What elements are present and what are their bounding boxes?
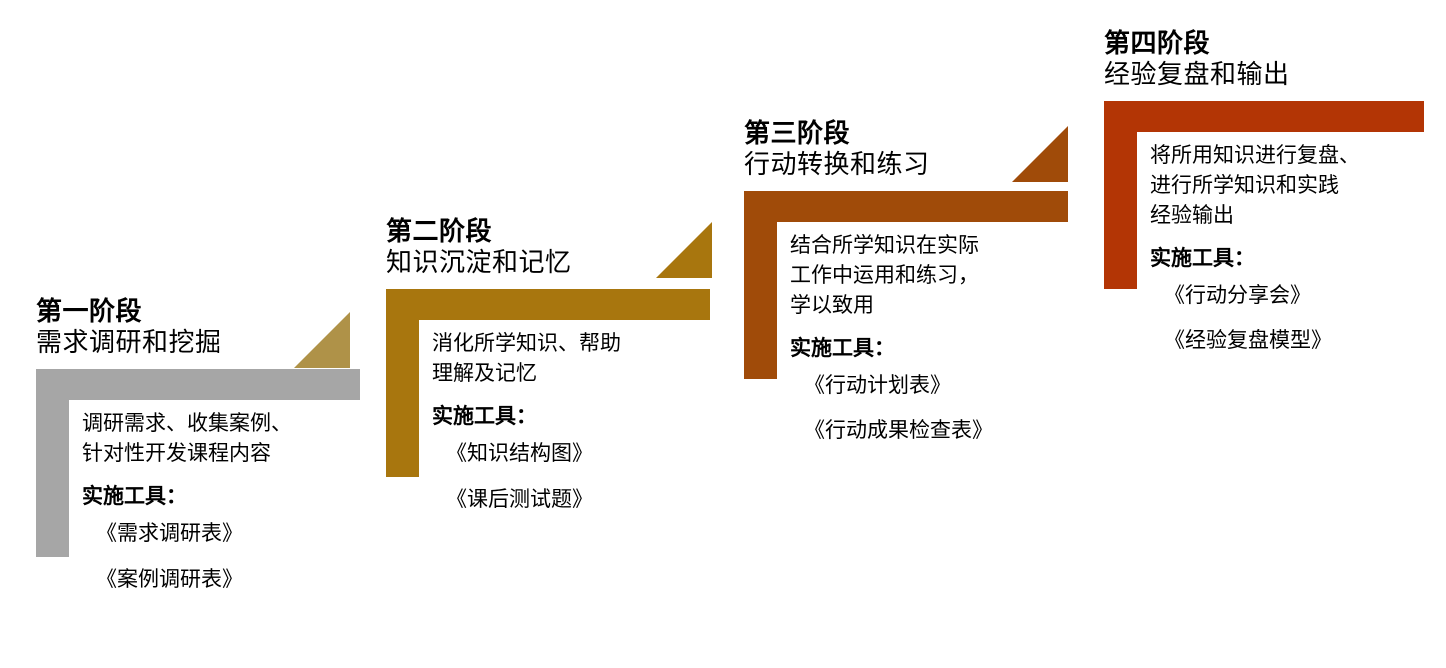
stage-1-description: 调研需求、收集案例、 针对性开发课程内容 bbox=[82, 409, 382, 469]
stage-1-corner-triangle bbox=[294, 312, 350, 368]
stage-4-tool-item[interactable]: 《经验复盘模型》 bbox=[1164, 327, 1446, 354]
stage-2-tool-item[interactable]: 《课后测试题》 bbox=[446, 486, 732, 513]
stage-2-heading: 第二阶段 知识沉淀和记忆 bbox=[386, 216, 726, 277]
stage-1-tool-item[interactable]: 《需求调研表》 bbox=[96, 520, 382, 547]
stage-block-1[interactable]: 第一阶段 需求调研和挖掘 调研需求、收集案例、 针对性开发课程内容 实施工具： … bbox=[36, 296, 376, 657]
stage-4-bracket-top bbox=[1104, 101, 1424, 132]
stage-2-description: 消化所学知识、帮助 理解及记忆 bbox=[432, 329, 732, 389]
stage-4-heading-line2: 经验复盘和输出 bbox=[1104, 59, 1444, 90]
diagram-canvas: 第一阶段 需求调研和挖掘 调研需求、收集案例、 针对性开发课程内容 实施工具： … bbox=[0, 0, 1446, 668]
stage-3-corner-triangle bbox=[1012, 126, 1068, 182]
stage-2-tool-item[interactable]: 《知识结构图》 bbox=[446, 440, 732, 467]
stage-1-bracket-stem bbox=[36, 369, 69, 557]
stage-4-body: 将所用知识进行复盘、 进行所学知识和实践 经验输出 实施工具： 《行动分享会》 … bbox=[1150, 141, 1446, 354]
stage-3-body: 结合所学知识在实际 工作中运用和练习， 学以致用 实施工具： 《行动计划表》 《… bbox=[790, 231, 1090, 444]
stage-1-heading: 第一阶段 需求调研和挖掘 bbox=[36, 296, 376, 357]
stage-2-corner-triangle bbox=[656, 222, 712, 278]
stage-3-description: 结合所学知识在实际 工作中运用和练习， 学以致用 bbox=[790, 231, 1090, 320]
stage-2-bracket-stem bbox=[386, 289, 419, 477]
stage-2-bracket: 消化所学知识、帮助 理解及记忆 实施工具： 《知识结构图》 《课后测试题》 bbox=[386, 289, 726, 577]
stage-2-body: 消化所学知识、帮助 理解及记忆 实施工具： 《知识结构图》 《课后测试题》 bbox=[432, 329, 732, 513]
stage-1-tools-label: 实施工具： bbox=[82, 483, 382, 510]
stage-3-tool-item[interactable]: 《行动计划表》 bbox=[804, 372, 1090, 399]
stage-3-bracket-stem bbox=[744, 191, 777, 379]
stage-4-description: 将所用知识进行复盘、 进行所学知识和实践 经验输出 bbox=[1150, 141, 1446, 230]
stage-4-tools-label: 实施工具： bbox=[1150, 245, 1446, 272]
stage-2-tools-label: 实施工具： bbox=[432, 403, 732, 430]
stage-1-bracket-top bbox=[36, 369, 360, 400]
stage-3-tool-item[interactable]: 《行动成果检查表》 bbox=[804, 417, 1090, 444]
stage-block-4[interactable]: 第四阶段 经验复盘和输出 将所用知识进行复盘、 进行所学知识和实践 经验输出 实… bbox=[1104, 28, 1444, 389]
stage-4-bracket-stem bbox=[1104, 101, 1137, 289]
stage-3-heading: 第三阶段 行动转换和练习 bbox=[744, 118, 1084, 179]
stage-2-bracket-top bbox=[386, 289, 710, 320]
stage-3-tools-label: 实施工具： bbox=[790, 335, 1090, 362]
stage-block-2[interactable]: 第二阶段 知识沉淀和记忆 消化所学知识、帮助 理解及记忆 实施工具： 《知识结构… bbox=[386, 216, 726, 577]
stage-4-heading: 第四阶段 经验复盘和输出 bbox=[1104, 28, 1444, 89]
stage-block-3[interactable]: 第三阶段 行动转换和练习 结合所学知识在实际 工作中运用和练习， 学以致用 实施… bbox=[744, 118, 1084, 479]
stage-1-body: 调研需求、收集案例、 针对性开发课程内容 实施工具： 《需求调研表》 《案例调研… bbox=[82, 409, 382, 593]
stage-4-heading-line1: 第四阶段 bbox=[1104, 28, 1444, 59]
stage-1-bracket: 调研需求、收集案例、 针对性开发课程内容 实施工具： 《需求调研表》 《案例调研… bbox=[36, 369, 376, 657]
stage-1-tool-item[interactable]: 《案例调研表》 bbox=[96, 566, 382, 593]
stage-4-tool-item[interactable]: 《行动分享会》 bbox=[1164, 282, 1446, 309]
stage-4-bracket: 将所用知识进行复盘、 进行所学知识和实践 经验输出 实施工具： 《行动分享会》 … bbox=[1104, 101, 1444, 389]
stage-3-bracket-top bbox=[744, 191, 1068, 222]
stage-3-bracket: 结合所学知识在实际 工作中运用和练习， 学以致用 实施工具： 《行动计划表》 《… bbox=[744, 191, 1084, 479]
